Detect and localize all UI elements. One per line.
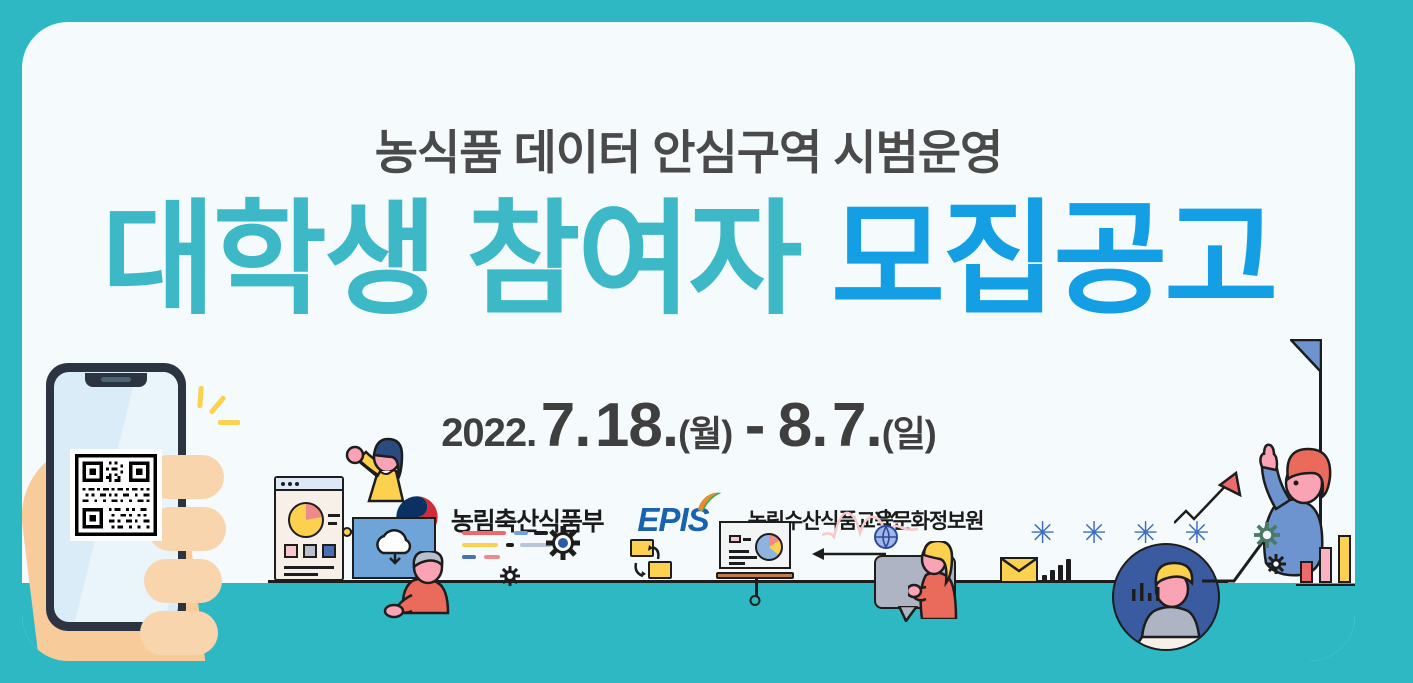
date-end-weekday: (일) [882, 413, 936, 454]
pie-chart-icon [288, 502, 324, 538]
bar-chart-icon [1300, 525, 1355, 583]
epis-swoosh-icon: EPIS [637, 501, 712, 539]
qr-code-icon[interactable] [70, 449, 162, 541]
gear-icon [546, 526, 580, 565]
laptop-screen [719, 521, 791, 569]
person-blonde-icon [908, 541, 964, 619]
page-title: 대학생 참여자 모집공고 [22, 198, 1355, 322]
phone-speaker [101, 377, 131, 382]
gear-icon [500, 566, 520, 591]
signal-bars-icon [1066, 559, 1071, 583]
growth-arrow-icon [1174, 471, 1246, 535]
dashboard-panel-icon [274, 476, 344, 581]
signal-bars-icon [1058, 565, 1063, 583]
poster-root: 농식품 데이터 안심구역 시범운영 대학생 참여자 모집공고 2022. 7. … [0, 0, 1413, 683]
globe-rays-icon [870, 509, 902, 523]
globe-icon [874, 525, 898, 549]
laptop-stand-dot [750, 595, 761, 606]
finger [140, 611, 218, 655]
page-subtitle: 농식품 데이터 안심구역 시범운영 [22, 114, 1355, 183]
date-end-day: 7. [832, 391, 882, 460]
sync-arrows-icon [628, 545, 668, 581]
envelope-icon [1000, 557, 1038, 583]
person-sitting-icon [382, 551, 472, 631]
gear-icon [1254, 522, 1280, 553]
pie-chart-icon [755, 533, 783, 561]
date-start-month: 7. [541, 391, 591, 460]
poster-card: 농식품 데이터 안심구역 시범운영 대학생 참여자 모집공고 2022. 7. … [22, 22, 1355, 661]
laptop-base [716, 572, 794, 579]
hand-holding-phone [28, 361, 238, 661]
epis-logo: EPIS 농림수산식품교육문화정보원 [637, 501, 983, 539]
page-title-part2: 모집공고 [831, 191, 1275, 329]
date-start-day: 18. [595, 391, 678, 460]
signal-bars-icon [1042, 575, 1047, 583]
date-year: 2022. [441, 411, 536, 455]
flag-icon [1290, 339, 1322, 373]
page-title-part1: 대학생 참여자 [102, 191, 800, 329]
laptop-chart-icon [716, 521, 794, 579]
date-start-weekday: (월) [678, 413, 732, 454]
signal-bars-icon [1050, 570, 1055, 583]
finger [144, 559, 222, 603]
gear-icon [1266, 554, 1286, 579]
date-end-month: 8. [778, 391, 828, 460]
date-separator: - [737, 391, 774, 460]
panel-titlebar [276, 478, 342, 491]
